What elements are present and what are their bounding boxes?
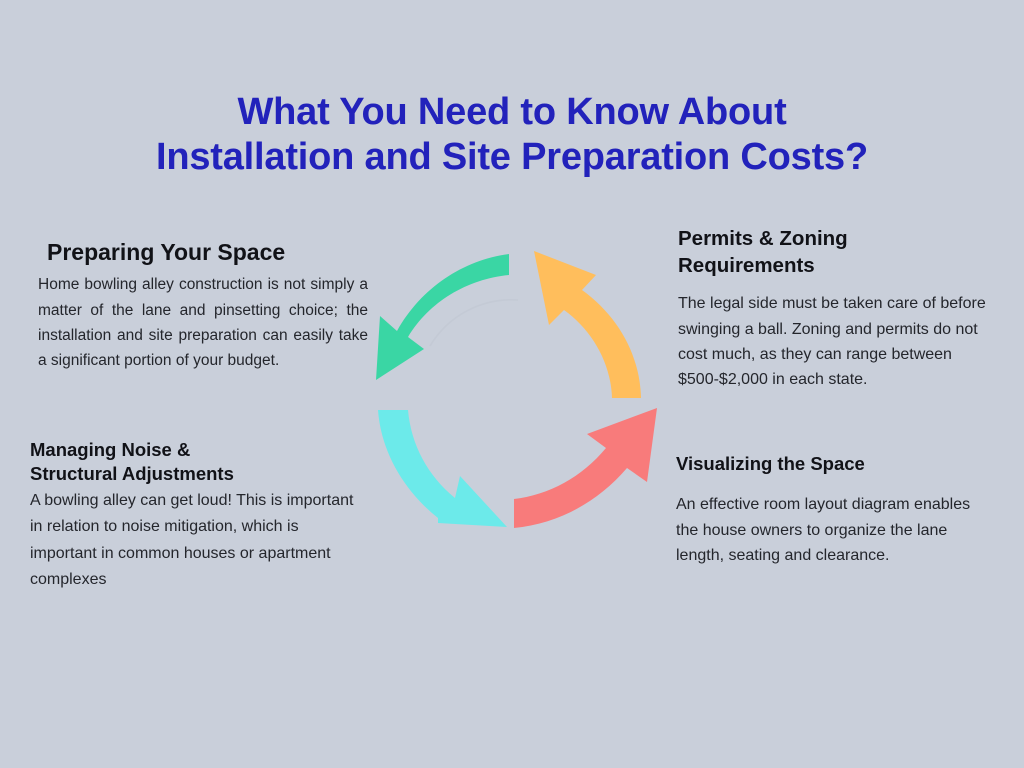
card-visualizing-heading: Visualizing the Space (676, 452, 986, 476)
red-arrow (514, 408, 657, 528)
card-preparing-heading: Preparing Your Space (28, 238, 368, 267)
inner-ghost-arc (430, 300, 518, 346)
page-title-line-2: Installation and Site Preparation Costs? (0, 135, 1024, 180)
card-permits-heading-line-2: Requirements (678, 254, 815, 277)
card-noise-heading-line-2: Structural Adjustments (30, 463, 234, 484)
green-arrow (376, 254, 509, 380)
card-visualizing-body: An effective room layout diagram enables… (676, 492, 986, 570)
cycle-diagram (368, 238, 668, 550)
card-managing-noise: Managing Noise & Structural Adjustments … (30, 438, 360, 593)
card-noise-heading-line-1: Managing Noise & (30, 439, 190, 460)
card-preparing-your-space: Preparing Your Space Home bowling alley … (28, 238, 368, 373)
card-permits-body: The legal side must be taken care of bef… (678, 291, 996, 392)
page-title-line-1: What You Need to Know About (0, 90, 1024, 135)
card-noise-heading: Managing Noise & Structural Adjustments (30, 438, 360, 485)
card-permits-heading: Permits & Zoning Requirements (678, 226, 996, 279)
orange-arrow (534, 251, 641, 398)
page-title: What You Need to Know About Installation… (0, 90, 1024, 180)
card-noise-body: A bowling alley can get loud! This is im… (30, 488, 360, 592)
card-permits-heading-line-1: Permits & Zoning (678, 227, 848, 250)
card-permits-zoning: Permits & Zoning Requirements The legal … (678, 226, 996, 392)
card-visualizing-the-space: Visualizing the Space An effective room … (676, 452, 986, 569)
cyan-arrow (378, 410, 507, 527)
infographic-canvas: What You Need to Know About Installation… (0, 0, 1024, 768)
card-preparing-body: Home bowling alley construction is not s… (28, 272, 368, 372)
